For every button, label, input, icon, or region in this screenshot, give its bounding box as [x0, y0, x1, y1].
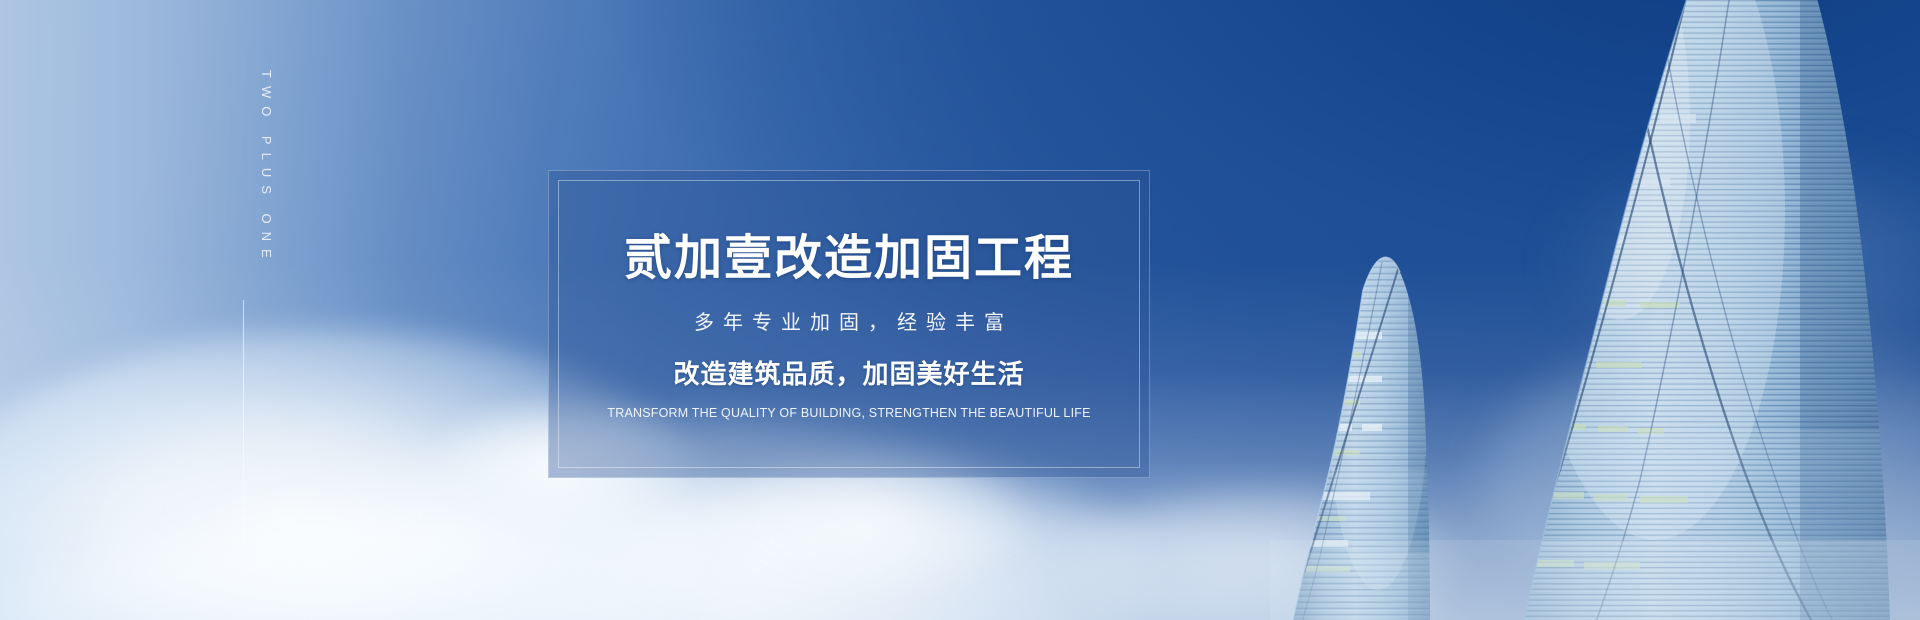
hero-banner: TWO PLUS ONE 1 贰加壹改造加固工程 多年专业加固，经验丰富 改造建…: [0, 0, 1920, 620]
vertical-divider-line: [243, 300, 244, 620]
hero-text-panel: 贰加壹改造加固工程 多年专业加固，经验丰富 改造建筑品质，加固美好生活 TRAN…: [548, 170, 1150, 478]
side-brand-mark: TWO PLUS ONE 1: [214, 0, 274, 620]
panel-content: 贰加壹改造加固工程 多年专业加固，经验丰富 改造建筑品质，加固美好生活 TRAN…: [549, 171, 1149, 477]
banner-slogan: 改造建筑品质，加固美好生活: [673, 359, 1024, 390]
banner-subtitle: 多年专业加固，经验丰富: [685, 311, 1013, 335]
slide-index-number: 1: [174, 574, 186, 581]
banner-main-title: 贰加壹改造加固工程: [624, 233, 1074, 285]
side-brand-label: TWO PLUS ONE: [214, 70, 274, 266]
banner-english-tagline: TRANSFORM THE QUALITY OF BUILDING, STREN…: [607, 406, 1090, 421]
